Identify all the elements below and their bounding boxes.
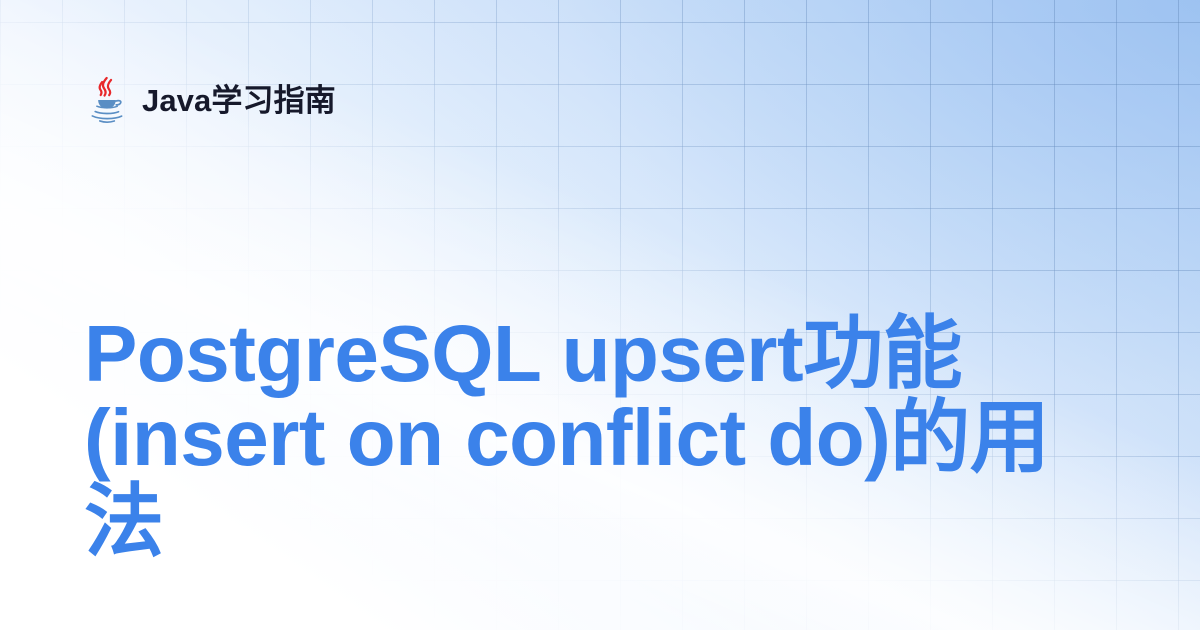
- banner-content: Java学习指南 PostgreSQL upsert功能(insert on c…: [0, 0, 1200, 630]
- og-banner-card: Java学习指南 PostgreSQL upsert功能(insert on c…: [0, 0, 1200, 630]
- brand-name-label: Java学习指南: [142, 85, 336, 116]
- java-logo-icon: [86, 75, 128, 125]
- brand-lockup: Java学习指南: [86, 74, 336, 126]
- page-title: PostgreSQL upsert功能(insert on conflict d…: [84, 312, 1074, 565]
